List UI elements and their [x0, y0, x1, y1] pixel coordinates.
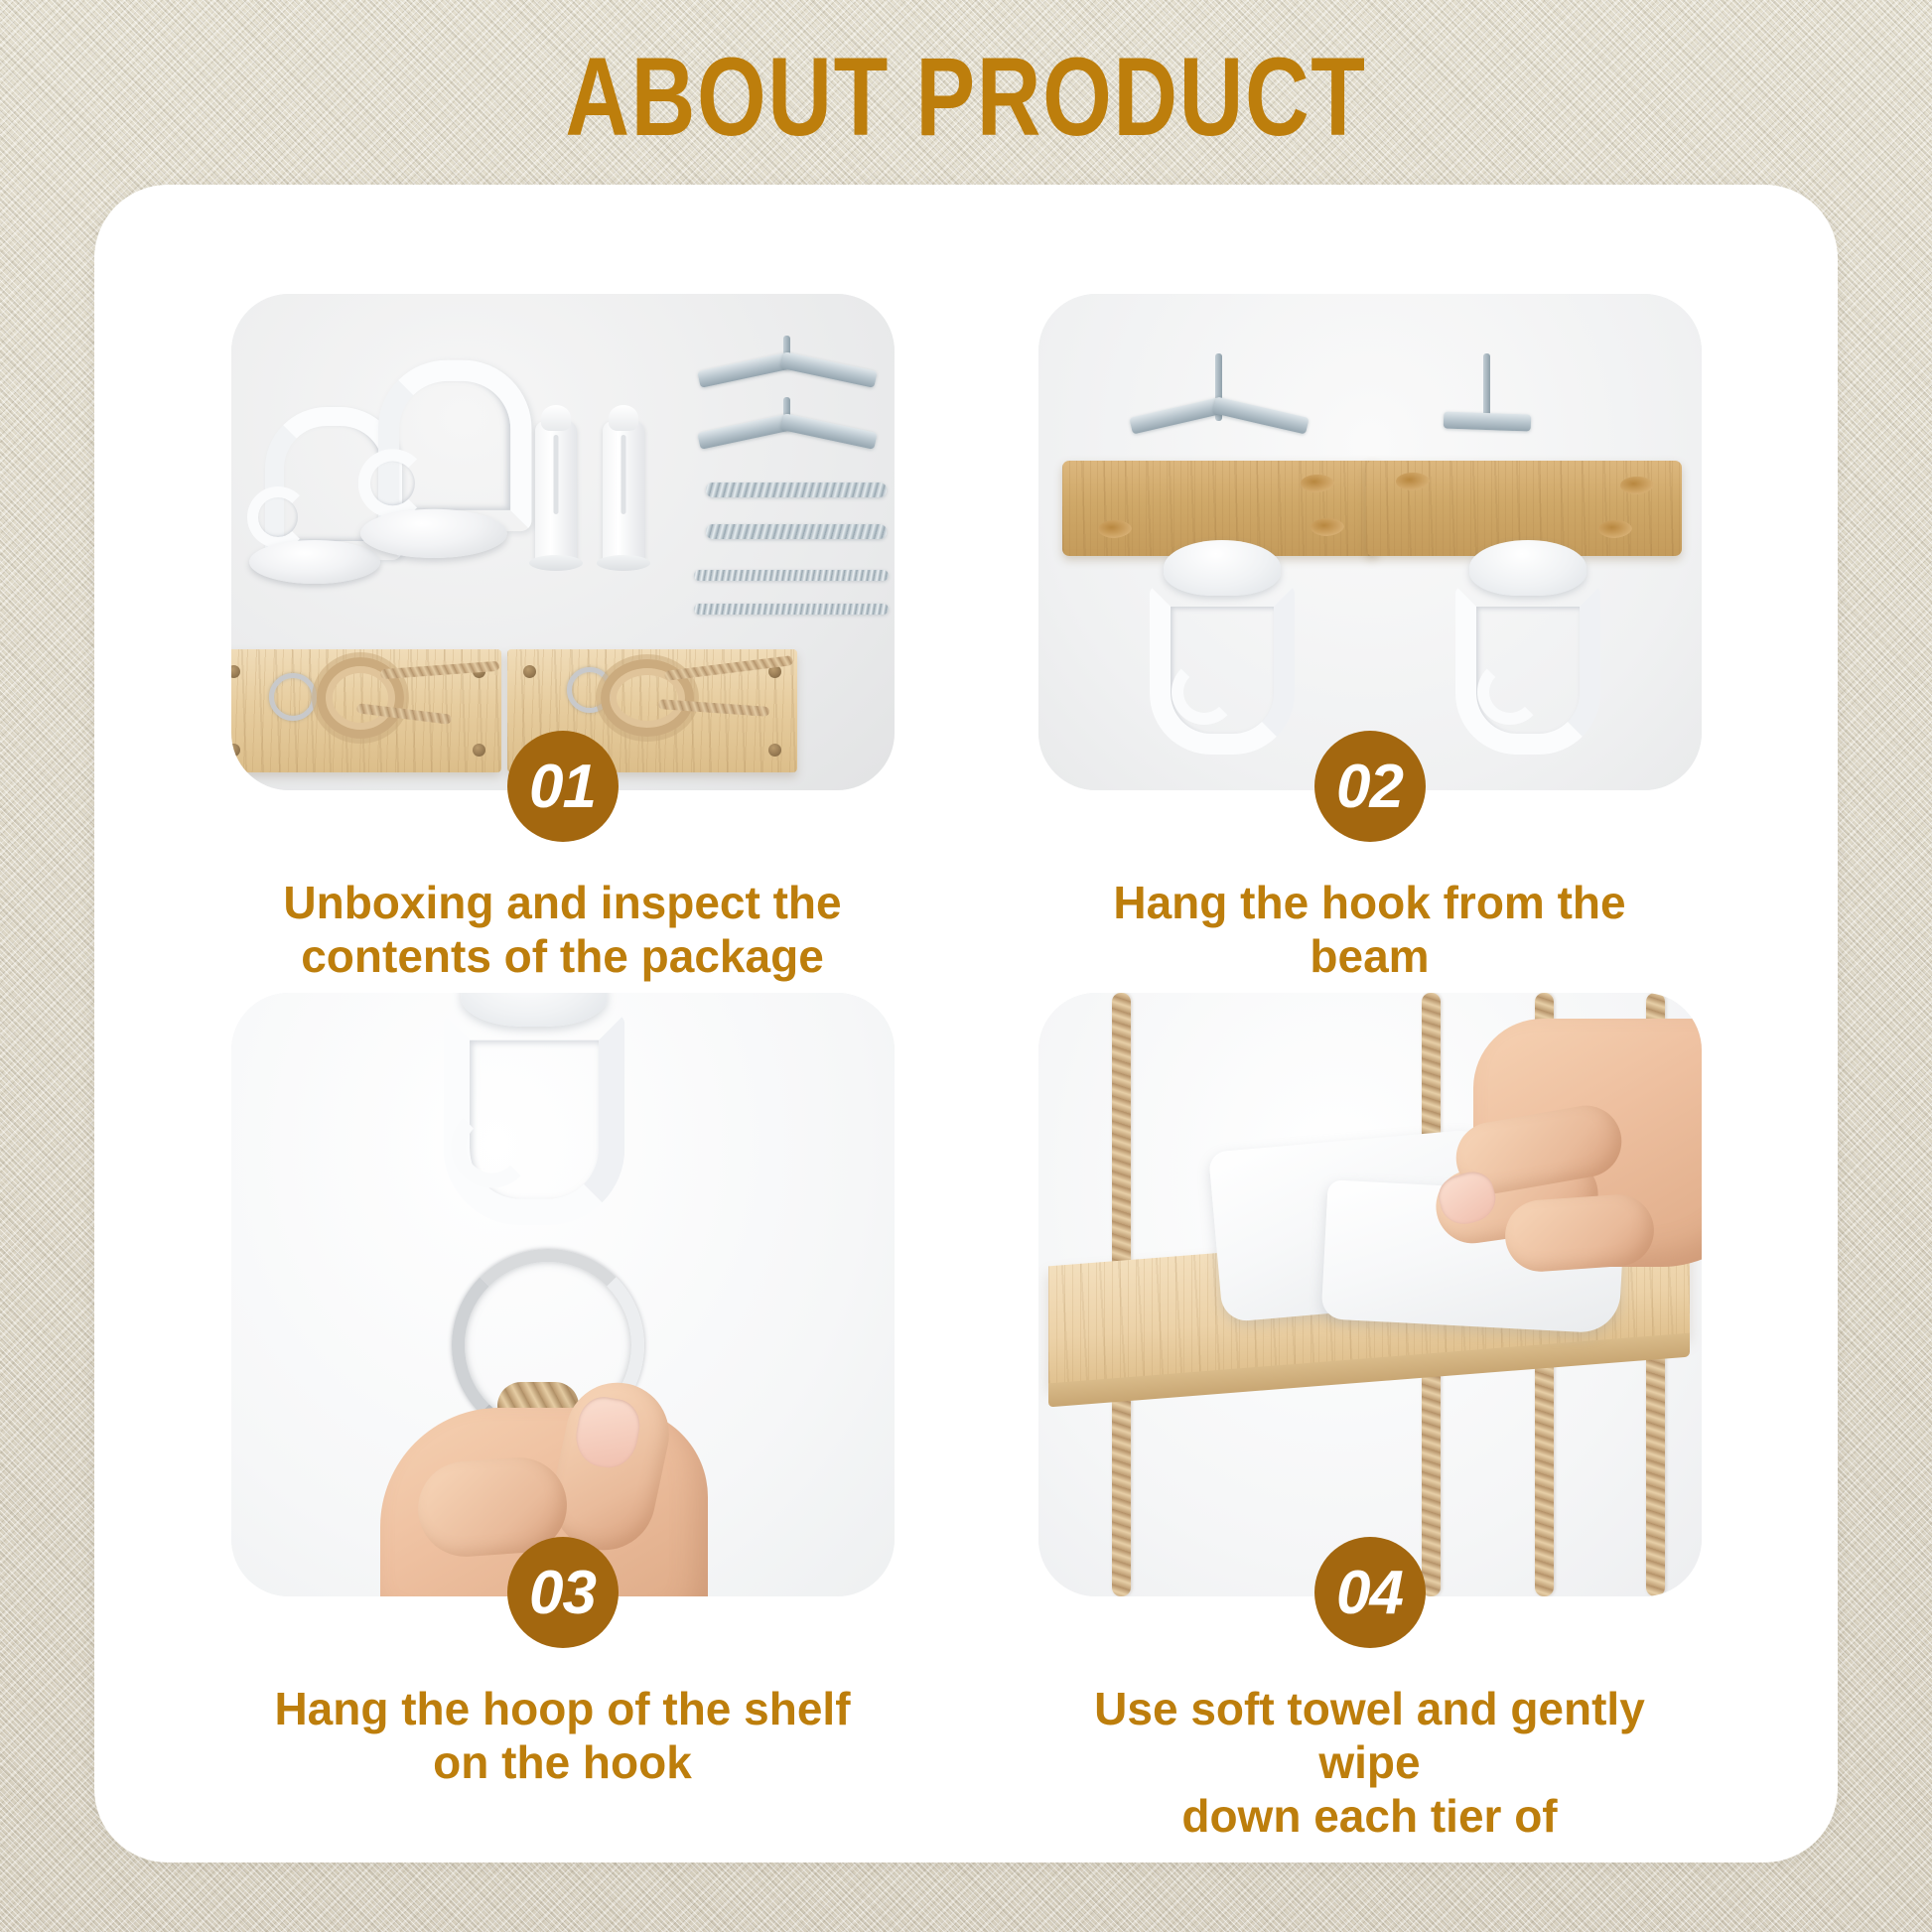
step-badge-03: 03 — [507, 1537, 619, 1648]
toggle-bolt-icon — [1130, 389, 1309, 435]
step-card-04: 04 Use soft towel and gently wipe down e… — [986, 993, 1753, 1843]
toggle-bolt-icon — [698, 411, 877, 457]
steps-grid: 01 Unboxing and inspect the contents of … — [94, 185, 1838, 1863]
screw-icon — [706, 524, 887, 539]
toggle-bolt-icon — [1428, 393, 1547, 439]
step-card-03: 03 Hang the hoop of the shelf on the hoo… — [179, 993, 946, 1843]
step-badge-01: 01 — [507, 731, 619, 842]
threaded-rod-icon — [694, 570, 889, 581]
step-photo-wrap-01: 01 — [179, 294, 946, 790]
step-photo-wrap-02: 02 — [986, 294, 1753, 790]
step-caption-01: Unboxing and inspect the contents of the… — [283, 876, 841, 983]
step-photo-01 — [231, 294, 895, 790]
white-hook-icon — [1164, 540, 1281, 768]
white-hook-icon — [1469, 540, 1587, 768]
metal-ring-icon — [269, 673, 317, 721]
threaded-rod-icon — [694, 604, 889, 615]
white-hook-icon — [360, 340, 525, 558]
step-badge-04: 04 — [1314, 1537, 1426, 1648]
wall-anchor-icon — [603, 421, 644, 562]
step-card-02: 02 Hang the hook from the beam — [986, 294, 1753, 983]
content-card: 01 Unboxing and inspect the contents of … — [94, 185, 1838, 1863]
thumb-icon — [1502, 1192, 1656, 1274]
step-photo-04 — [1038, 993, 1702, 1596]
step-badge-02: 02 — [1314, 731, 1426, 842]
step-photo-03 — [231, 993, 895, 1596]
page-title: ABOUT PRODUCT — [194, 38, 1739, 157]
step-caption-03: Hang the hoop of the shelf on the hook — [274, 1682, 850, 1789]
step-card-01: 01 Unboxing and inspect the contents of … — [179, 294, 946, 983]
step-photo-02 — [1038, 294, 1702, 790]
step-caption-04: Use soft towel and gently wipe down each… — [1052, 1682, 1688, 1843]
step-caption-02: Hang the hook from the beam — [1052, 876, 1688, 983]
step-photo-wrap-04: 04 — [986, 993, 1753, 1596]
toggle-bolt-icon — [698, 349, 877, 395]
screw-icon — [706, 483, 887, 497]
step-photo-wrap-03: 03 — [179, 993, 946, 1596]
wall-anchor-icon — [535, 421, 577, 562]
